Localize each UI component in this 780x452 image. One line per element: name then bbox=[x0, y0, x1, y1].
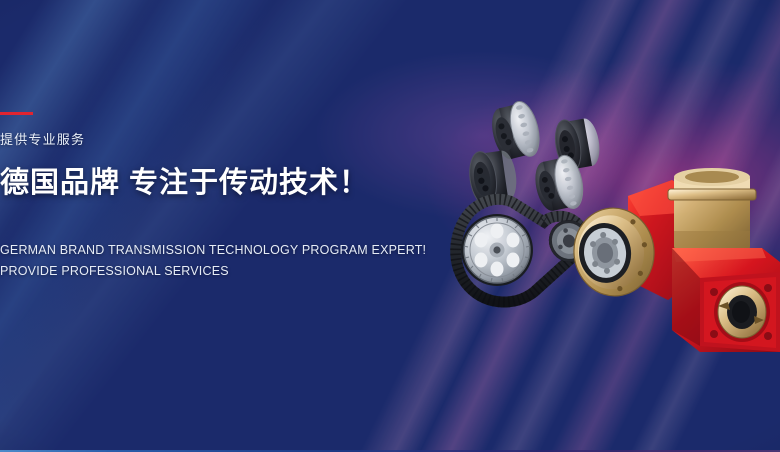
promo-banner: 提供专业服务 德国品牌 专注于传动技术！ GERMAN BRAND TRANSM… bbox=[0, 0, 780, 452]
banner-kicker: 提供专业服务 bbox=[0, 133, 430, 146]
english-line-1: GERMAN BRAND TRANSMISSION TECHNOLOGY PRO… bbox=[0, 240, 430, 262]
banner-headline: 德国品牌 专注于传动技术！ bbox=[0, 168, 430, 200]
banner-copy: 提供专业服务 德国品牌 专注于传动技术！ GERMAN BRAND TRANSM… bbox=[0, 112, 430, 283]
banner-english-copy: GERMAN BRAND TRANSMISSION TECHNOLOGY PRO… bbox=[0, 240, 430, 283]
english-line-2: PROVIDE PROFESSIONAL SERVICES bbox=[0, 261, 430, 283]
accent-rule bbox=[0, 112, 33, 115]
